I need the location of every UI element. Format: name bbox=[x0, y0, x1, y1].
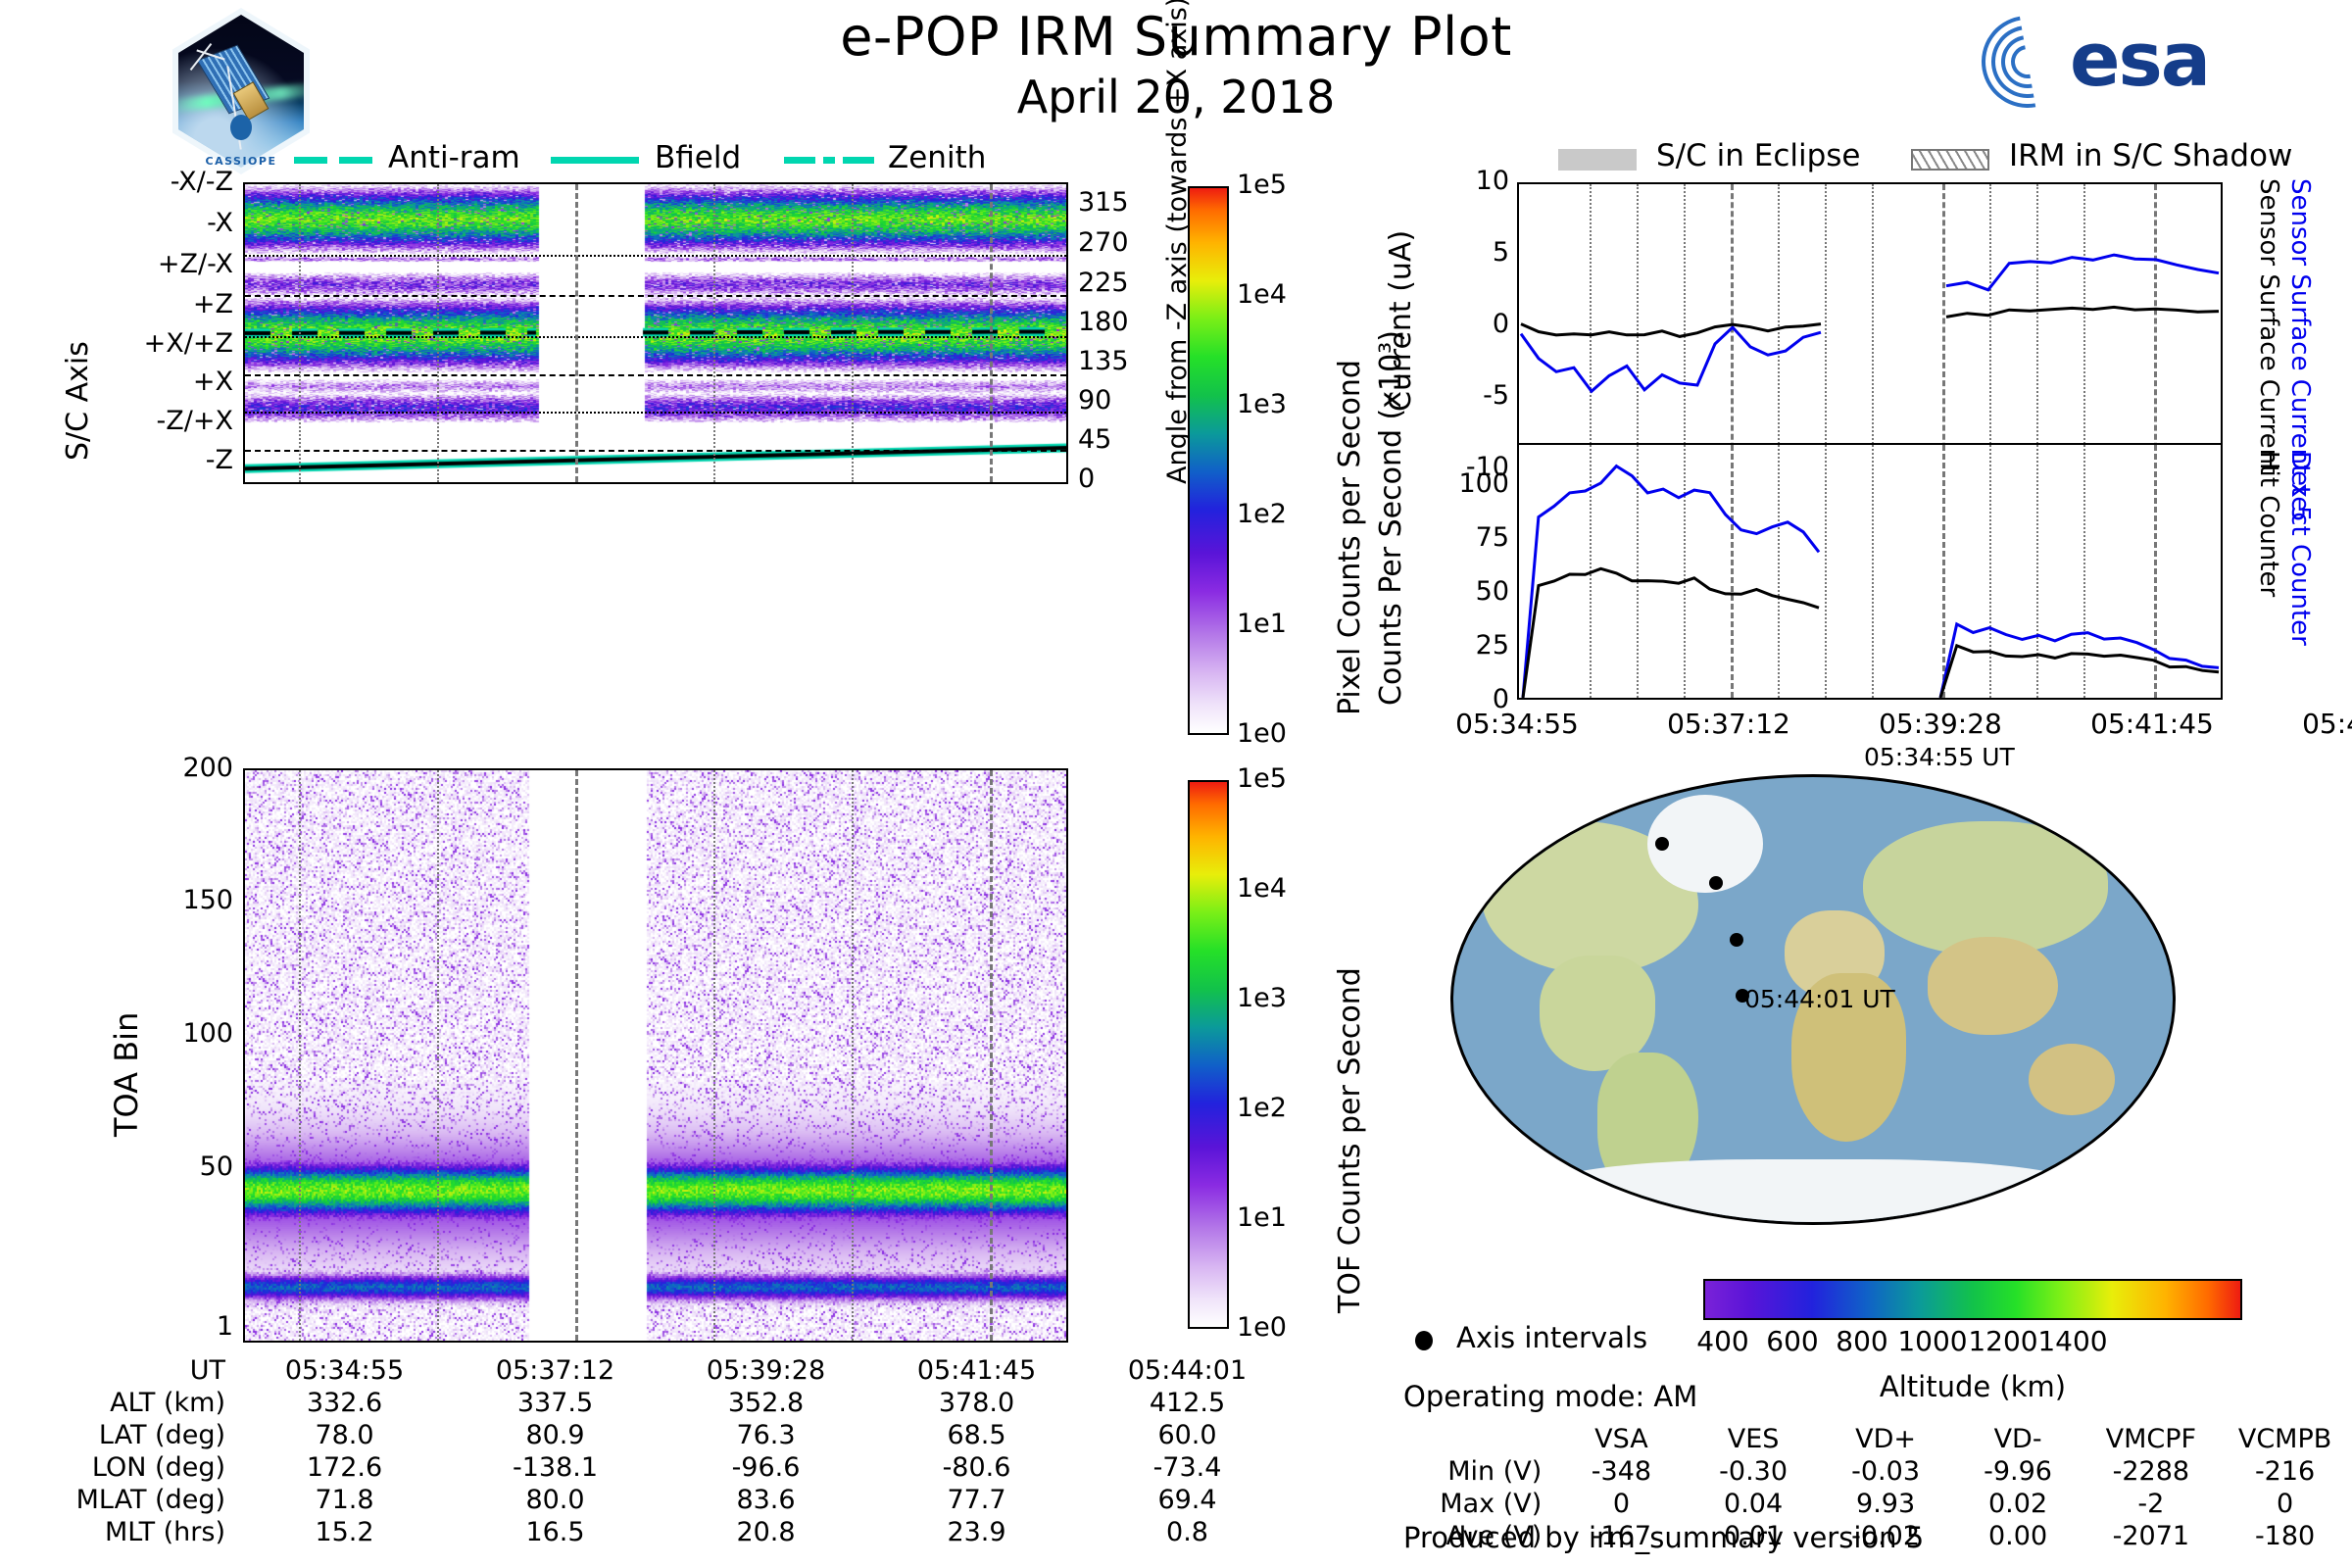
table-cell: 05:34:55 bbox=[239, 1354, 450, 1387]
counts-ylabel: Counts Per Second (x10³) bbox=[1376, 451, 1407, 706]
table-cell: 412.5 bbox=[1082, 1387, 1293, 1419]
ground-track-map: 05:44:01 UT 05:34:55 UT bbox=[1450, 774, 2176, 1225]
table-cell: 80.0 bbox=[450, 1484, 661, 1516]
sc-axis-right-tick-labels: 315 270 225 180 135 90 45 0 bbox=[1078, 182, 1166, 484]
tof-counts-colorbar bbox=[1188, 780, 1229, 1329]
counts-ytick-labels: 100 75 50 25 0 bbox=[1421, 443, 1509, 700]
track-point bbox=[1655, 837, 1669, 851]
table-cell: 352.8 bbox=[661, 1387, 871, 1419]
table-cell: 76.3 bbox=[661, 1419, 871, 1451]
shadow-swatch bbox=[1911, 149, 1989, 171]
map-axis-interval-dot bbox=[1415, 1331, 1433, 1350]
counts-right-label-black: Hit Counter bbox=[2254, 451, 2283, 597]
series-line bbox=[1521, 324, 1821, 337]
table-cell: 71.8 bbox=[239, 1484, 450, 1516]
table-header-row: VSAVESVD+VD-VMCPFVCMPB bbox=[1401, 1423, 2352, 1455]
table-cell: 16.5 bbox=[450, 1516, 661, 1548]
current-right-label-black: Sensor Surface Current bbox=[2254, 178, 2283, 474]
altitude-colorbar-ticks: 400 600 800 1000 1200 1400 bbox=[1703, 1325, 2242, 1364]
row-label: ALT (km) bbox=[59, 1387, 239, 1419]
esa-logo: esa bbox=[1980, 10, 2274, 108]
table-cell: 80.9 bbox=[450, 1419, 661, 1451]
legend-label-anti-ram: Anti-ram bbox=[388, 140, 520, 175]
table-cell: -2288 bbox=[2084, 1455, 2219, 1488]
table-cell: -80.6 bbox=[871, 1451, 1082, 1484]
toa-bin-heatmap-canvas bbox=[245, 770, 1066, 1341]
altitude-colorbar-label: Altitude (km) bbox=[1703, 1370, 2242, 1403]
table-cell: 337.5 bbox=[450, 1387, 661, 1419]
table-row: ALT (km)332.6337.5352.8378.0412.5 bbox=[59, 1387, 1293, 1419]
table-row: Min (V)-348-0.30-0.03-9.96-2288-216 bbox=[1401, 1455, 2352, 1488]
table-cell: 05:39:28 bbox=[661, 1354, 871, 1387]
table-row: LAT (deg)78.080.976.368.560.0 bbox=[59, 1419, 1293, 1451]
current-ytick-labels: 10 5 0 -5 -10 bbox=[1421, 182, 1509, 468]
row-label: LON (deg) bbox=[59, 1451, 239, 1484]
operating-mode-label: Operating mode: AM bbox=[1403, 1380, 1697, 1413]
table-cell: -348 bbox=[1555, 1455, 1687, 1488]
series-line bbox=[1523, 568, 1819, 698]
table-cell: 78.0 bbox=[239, 1419, 450, 1451]
table-cell: 23.9 bbox=[871, 1516, 1082, 1548]
track-end-point bbox=[2090, 821, 2104, 835]
table-cell: 77.7 bbox=[871, 1484, 1082, 1516]
row-label: Max (V) bbox=[1401, 1488, 1555, 1520]
footer-produced-by: Produced by irm_summary version 5 bbox=[1403, 1521, 1924, 1554]
table-cell: 15.2 bbox=[239, 1516, 450, 1548]
esa-wordmark: esa bbox=[2070, 16, 2209, 103]
altitude-colorbar bbox=[1703, 1279, 2242, 1320]
legend-sc-axis: Anti-ram Bfield Zenith bbox=[294, 143, 1039, 182]
track-point bbox=[1709, 876, 1723, 890]
pixel-counts-colorbar bbox=[1188, 186, 1229, 735]
series-line bbox=[1940, 646, 2219, 698]
column-header: VSA bbox=[1555, 1423, 1687, 1455]
table-cell: 20.8 bbox=[661, 1516, 871, 1548]
table-cell: 0.00 bbox=[1952, 1520, 2084, 1552]
table-corner bbox=[1401, 1423, 1555, 1455]
toa-bin-spectrogram-panel bbox=[243, 768, 1068, 1343]
table-cell: 0.02 bbox=[1952, 1488, 2084, 1520]
table-cell: -73.4 bbox=[1082, 1451, 1293, 1484]
toa-bin-ytick-labels: 200 150 100 50 1 bbox=[137, 768, 233, 1343]
table-cell: -96.6 bbox=[661, 1451, 871, 1484]
table-cell: 0 bbox=[2218, 1488, 2352, 1520]
table-row: MLAT (deg)71.880.083.677.769.4 bbox=[59, 1484, 1293, 1516]
table-row: MLT (hrs)15.216.520.823.90.8 bbox=[59, 1516, 1293, 1548]
table-row: LON (deg)172.6-138.1-96.6-80.6-73.4 bbox=[59, 1451, 1293, 1484]
track-point bbox=[1730, 933, 1743, 947]
row-label: UT bbox=[59, 1354, 239, 1387]
pixel-counts-colorbar-ticks: 1e5 1e4 1e3 1e2 1e1 1e0 bbox=[1237, 186, 1345, 735]
map-label-end-time: 05:44:01 UT bbox=[1744, 985, 1895, 1013]
series-line bbox=[1946, 307, 2219, 317]
table-cell: 68.5 bbox=[871, 1419, 1082, 1451]
table-cell: -180 bbox=[2218, 1520, 2352, 1552]
table-cell: 05:37:12 bbox=[450, 1354, 661, 1387]
map-axis-interval-label: Axis intervals bbox=[1456, 1321, 1647, 1354]
table-cell: 332.6 bbox=[239, 1387, 450, 1419]
table-cell: 05:41:45 bbox=[871, 1354, 1082, 1387]
sc-axis-ytick-labels: -X/-Z -X +Z/-X +Z +X/+Z +X -Z/+X -Z bbox=[98, 182, 233, 484]
table-cell: -2071 bbox=[2084, 1520, 2219, 1552]
table-cell: 0.8 bbox=[1082, 1516, 1293, 1548]
column-header: VD- bbox=[1952, 1423, 2084, 1455]
column-header: VD+ bbox=[1820, 1423, 1952, 1455]
legend-label-bfield: Bfield bbox=[655, 140, 741, 175]
current-plot-panel bbox=[1517, 182, 2223, 468]
legend-label-shadow: IRM in S/C Shadow bbox=[2009, 138, 2292, 173]
legend-label-eclipse: S/C in Eclipse bbox=[1656, 138, 1861, 173]
table-cell: 172.6 bbox=[239, 1451, 450, 1484]
column-header: VES bbox=[1688, 1423, 1820, 1455]
tof-counts-colorbar-ticks: 1e5 1e4 1e3 1e2 1e1 1e0 bbox=[1237, 780, 1345, 1329]
table-cell: 9.93 bbox=[1820, 1488, 1952, 1520]
map-label-start-time: 05:34:55 UT bbox=[1864, 743, 2015, 771]
table-cell: 60.0 bbox=[1082, 1419, 1293, 1451]
table-cell: -9.96 bbox=[1952, 1455, 2084, 1488]
table-cell: -138.1 bbox=[450, 1451, 661, 1484]
table-cell: 69.4 bbox=[1082, 1484, 1293, 1516]
table-cell: 05:44:01 bbox=[1082, 1354, 1293, 1387]
table-row: UT05:34:5505:37:1205:39:2805:41:4505:44:… bbox=[59, 1354, 1293, 1387]
row-label: MLAT (deg) bbox=[59, 1484, 239, 1516]
cassiope-mission-patch-logo: CASSIOPE bbox=[172, 8, 310, 174]
ephemeris-table: UT05:34:5505:37:1205:39:2805:41:4505:44:… bbox=[59, 1354, 1293, 1548]
legend-label-zenith: Zenith bbox=[888, 140, 986, 175]
sc-axis-heatmap-canvas bbox=[245, 184, 1066, 482]
series-line bbox=[1946, 255, 2219, 290]
table-cell: -0.03 bbox=[1820, 1455, 1952, 1488]
row-label: MLT (hrs) bbox=[59, 1516, 239, 1548]
table-cell: 378.0 bbox=[871, 1387, 1082, 1419]
counts-plot-panel bbox=[1517, 443, 2223, 700]
legend-eclipse-shadow: S/C in Eclipse IRM in S/C Shadow bbox=[1558, 143, 2303, 182]
counts-time-axis: 05:34:55 05:37:12 05:39:28 05:41:45 05:4… bbox=[1517, 708, 2223, 747]
sc-axis-spectrogram-panel bbox=[243, 182, 1068, 484]
table-cell: 0.04 bbox=[1688, 1488, 1820, 1520]
pixel-counts-colorbar-label: Pixel Counts per Second bbox=[1333, 360, 1367, 715]
series-line bbox=[1521, 327, 1821, 391]
table-cell: 83.6 bbox=[661, 1484, 871, 1516]
series-line bbox=[1940, 624, 2219, 698]
table-cell: -0.30 bbox=[1688, 1455, 1820, 1488]
column-header: VCMPB bbox=[2218, 1423, 2352, 1455]
table-row: Max (V)00.049.930.02-20 bbox=[1401, 1488, 2352, 1520]
table-cell: -216 bbox=[2218, 1455, 2352, 1488]
tof-counts-colorbar-label: TOF Counts per Second bbox=[1333, 967, 1367, 1313]
row-label: Min (V) bbox=[1401, 1455, 1555, 1488]
row-label: LAT (deg) bbox=[59, 1419, 239, 1451]
sc-axis-ylabel: S/C Axis bbox=[61, 341, 95, 461]
eclipse-swatch bbox=[1558, 149, 1637, 171]
column-header: VMCPF bbox=[2084, 1423, 2219, 1455]
table-cell: 0 bbox=[1555, 1488, 1687, 1520]
table-cell: -2 bbox=[2084, 1488, 2219, 1520]
counts-right-label-blue: Detect Counter bbox=[2285, 451, 2315, 646]
